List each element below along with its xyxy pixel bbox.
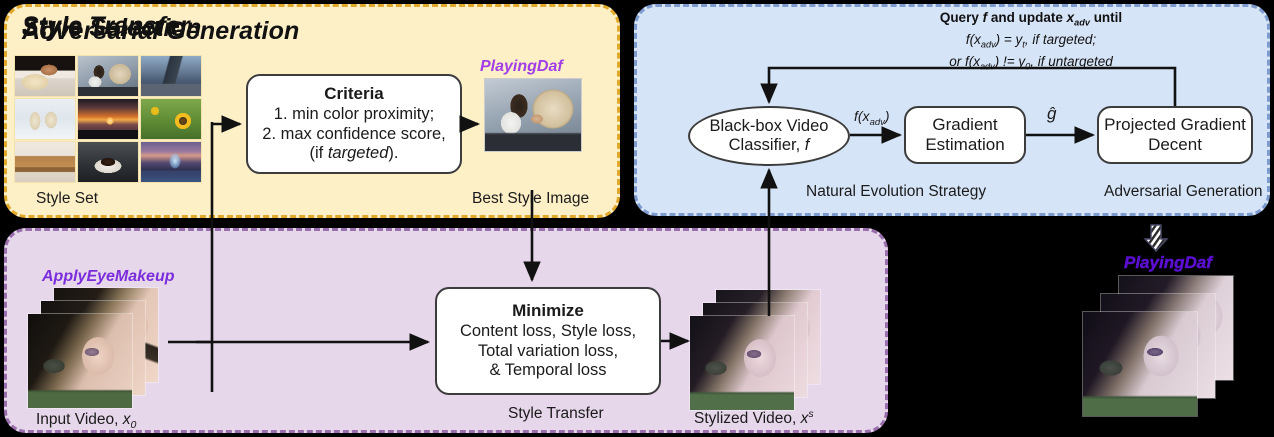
flow-connectors	[0, 0, 1274, 437]
figure-canvas: Style Selection	[0, 0, 1274, 437]
